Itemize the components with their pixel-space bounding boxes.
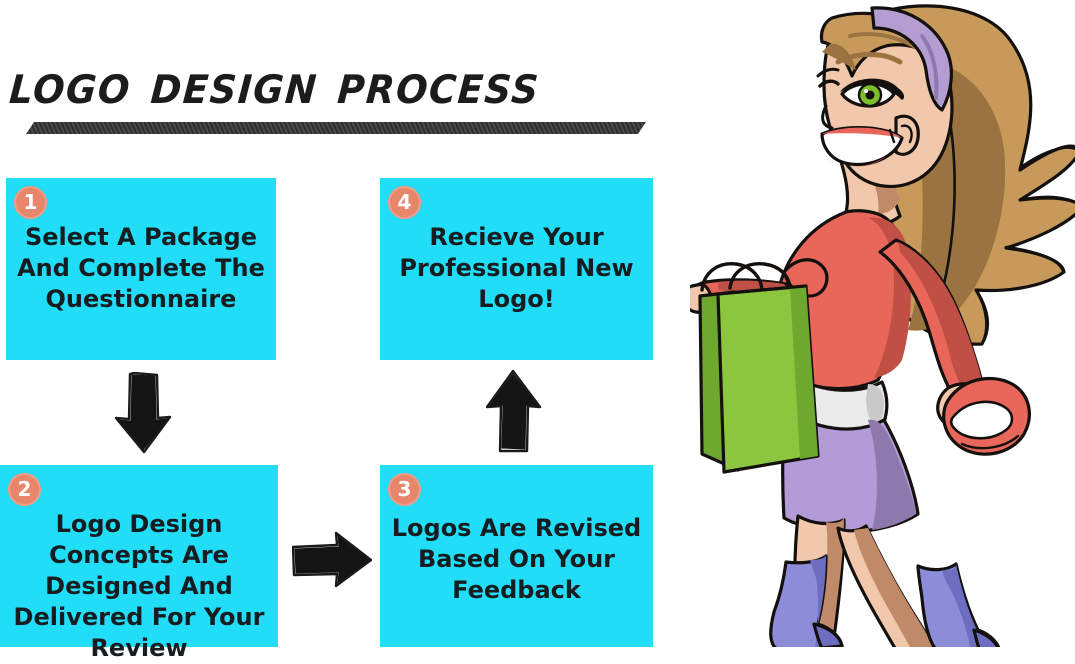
shopping-woman-illustration bbox=[690, 0, 1075, 647]
step-box-4[interactable]: 4 Recieve Your Professional New Logo! bbox=[380, 178, 653, 360]
title-underline-decoration bbox=[26, 122, 646, 134]
page-title: Logo Design Process bbox=[7, 52, 652, 118]
step-badge-3: 3 bbox=[388, 473, 421, 506]
step-box-3[interactable]: 3 Logos Are Revised Based On Your Feedba… bbox=[380, 465, 653, 647]
step-text-2: Logo Design Concepts Are Designed And De… bbox=[0, 509, 278, 664]
step-text-3: Logos Are Revised Based On Your Feedback bbox=[380, 513, 653, 606]
arrow-down-icon bbox=[112, 372, 174, 454]
arrow-right-icon bbox=[292, 531, 372, 589]
step-badge-2: 2 bbox=[8, 473, 41, 506]
step-badge-1: 1 bbox=[14, 186, 47, 219]
step-badge-4: 4 bbox=[388, 186, 421, 219]
title-block: Logo Design Process bbox=[12, 52, 652, 142]
arrow-up-icon bbox=[482, 368, 544, 454]
step-text-4: Recieve Your Professional New Logo! bbox=[380, 222, 653, 315]
step-box-2[interactable]: 2 Logo Design Concepts Are Designed And … bbox=[0, 465, 278, 647]
step-box-1[interactable]: 1 Select A Package And Complete The Ques… bbox=[6, 178, 276, 360]
step-text-1: Select A Package And Complete The Questi… bbox=[6, 222, 276, 315]
